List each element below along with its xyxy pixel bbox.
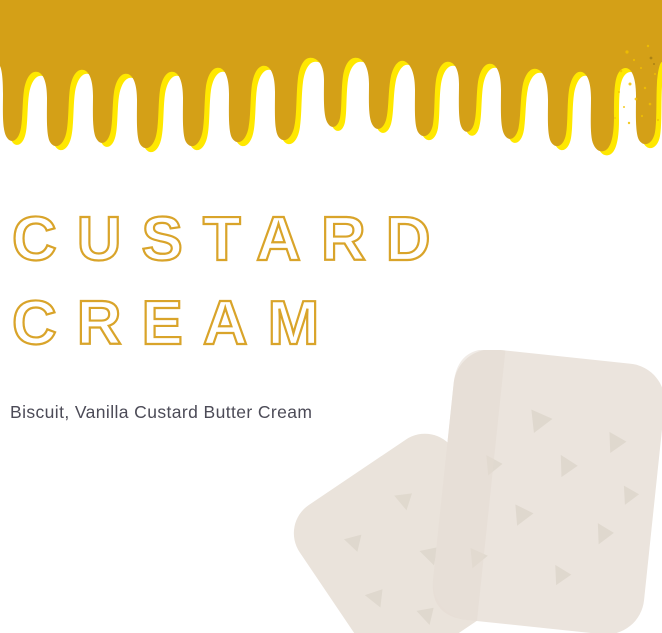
recipe-card-poster: CUSTARD CREAM Biscuit, Vanilla Custard B…	[0, 0, 662, 633]
subtitle-ingredients: Biscuit, Vanilla Custard Butter Cream	[10, 402, 312, 423]
drip-main-layer	[0, 0, 662, 151]
biscuit-illustration	[270, 350, 662, 633]
honey-drip-banner	[0, 0, 662, 180]
biscuit-right	[429, 350, 662, 633]
page-title: CUSTARD CREAM	[0, 198, 662, 366]
biscuit-graphic	[270, 350, 662, 633]
title-line-1: CUSTARD	[0, 198, 662, 282]
honey-drip-graphic	[0, 0, 662, 180]
